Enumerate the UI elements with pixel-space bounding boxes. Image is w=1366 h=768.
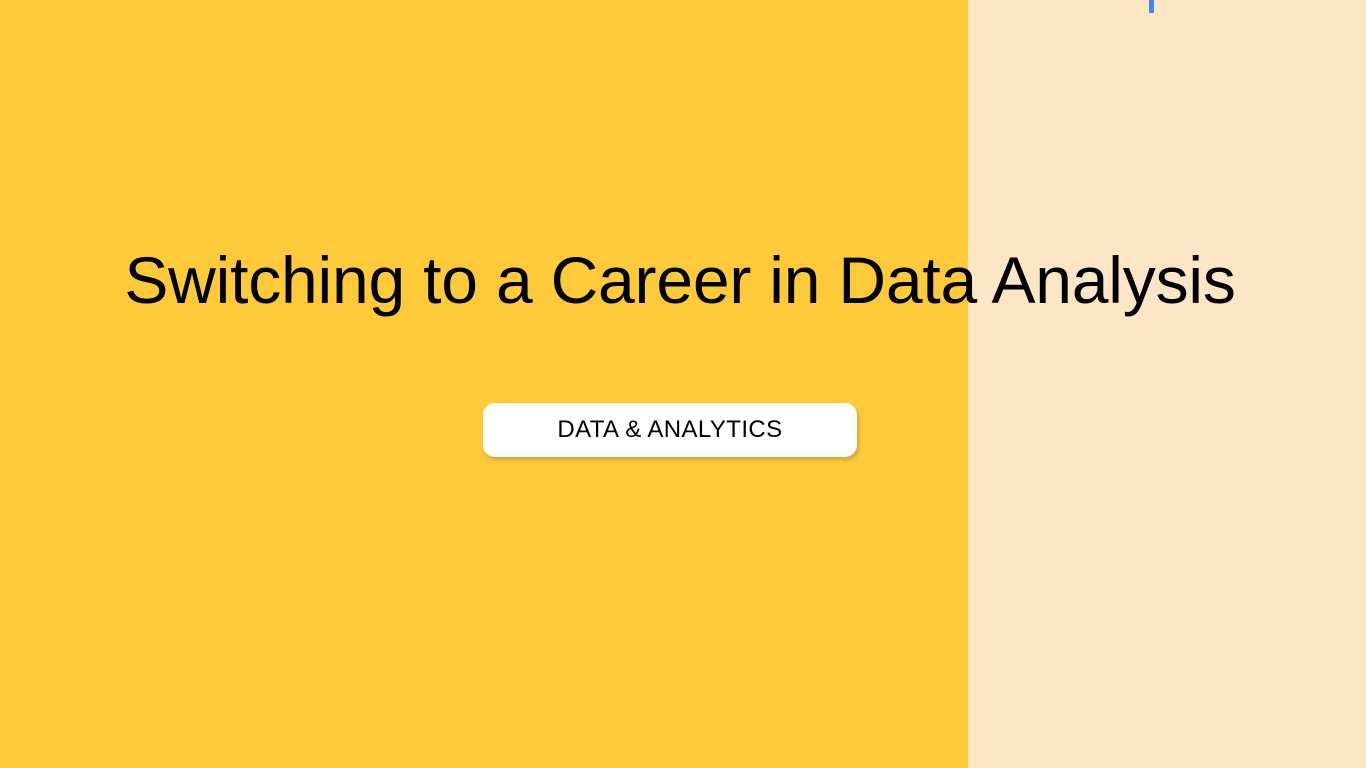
text-cursor-caret — [1149, 0, 1154, 13]
slide-title[interactable]: Switching to a Career in Data Analysis — [0, 243, 1366, 319]
category-chip-button[interactable]: DATA & ANALYTICS — [483, 403, 857, 457]
slide-background-primary-panel — [0, 0, 968, 768]
category-chip-label: DATA & ANALYTICS — [557, 418, 782, 442]
presentation-slide: Switching to a Career in Data Analysis D… — [0, 0, 1366, 768]
